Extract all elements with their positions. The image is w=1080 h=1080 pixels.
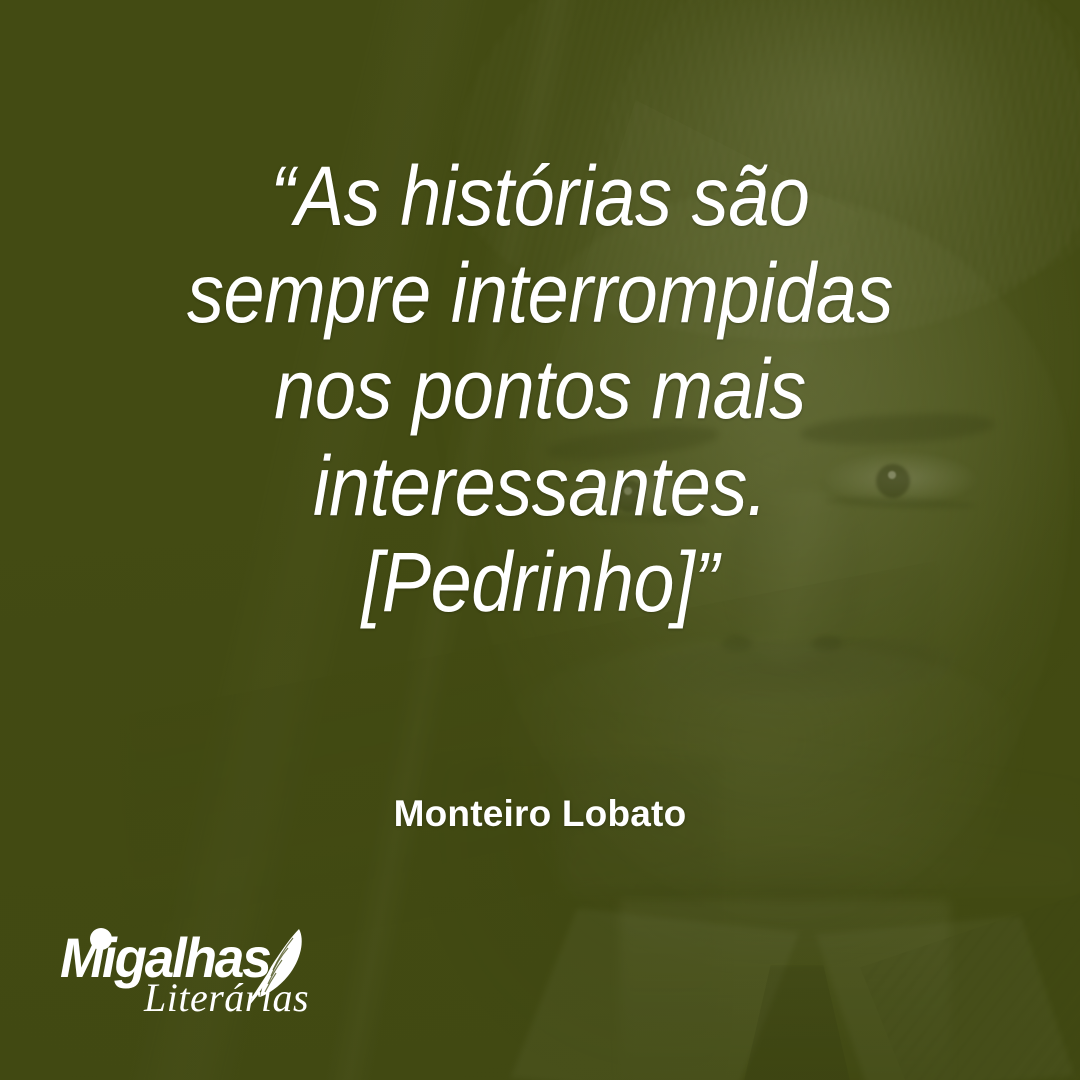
author-name: Monteiro Lobato xyxy=(0,793,1080,835)
quote-card: “As histórias são sempre interrompidas n… xyxy=(0,0,1080,1080)
quote-text: “As histórias são sempre interrompidas n… xyxy=(65,148,1015,631)
brand-logo[interactable]: Migalhas Literárias xyxy=(60,930,320,1025)
card-content: “As histórias são sempre interrompidas n… xyxy=(0,0,1080,1080)
quill-feather-icon xyxy=(235,924,313,1006)
